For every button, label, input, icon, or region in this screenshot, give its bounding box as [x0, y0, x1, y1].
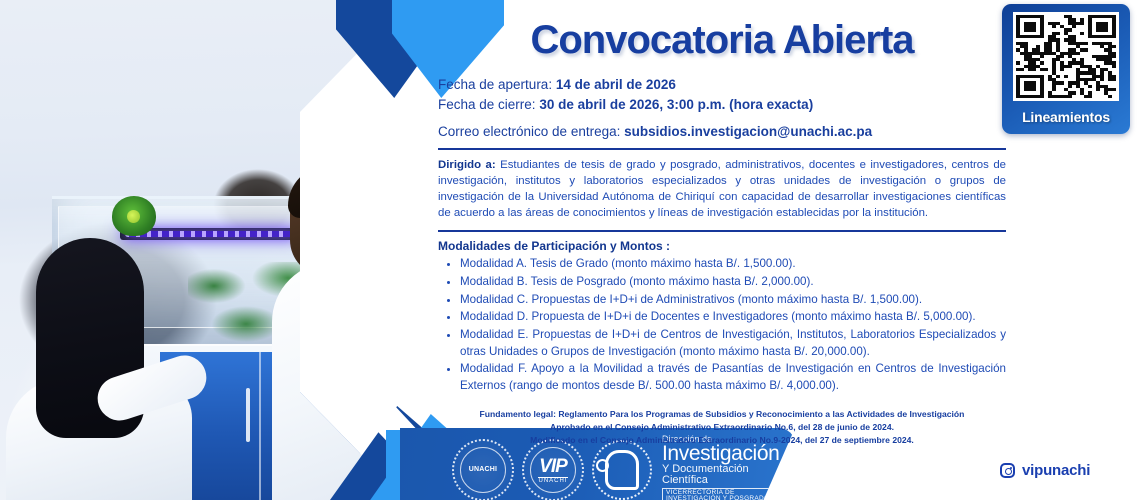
- legal-line-2: Aprobado en el Consejo Administrativo Ex…: [438, 421, 1006, 434]
- instagram-handle-text: vipunachi: [1022, 462, 1090, 479]
- researcher-right-hair: [288, 166, 380, 218]
- modalidades-heading: Modalidades de Participación y Montos :: [438, 239, 1006, 253]
- edge-accent-strip: [386, 430, 402, 500]
- promotional-banner: UNACHI VIP UNACHI Dirección de Investiga…: [0, 0, 1140, 500]
- lineamientos-label: Lineamientos: [1002, 109, 1130, 125]
- dirigido-paragraph: Dirigido a: Estudiantes de tesis de grad…: [438, 157, 1006, 222]
- list-item: Modalidad C. Propuestas de I+D+i de Admi…: [460, 292, 1006, 309]
- dates-block: Fecha de apertura: 14 de abril de 2026 F…: [438, 75, 1006, 116]
- content-column: Convocatoria Abierta Fecha de apertura: …: [438, 0, 1006, 500]
- researcher-right-head: [290, 172, 376, 276]
- email-value[interactable]: subsidios.investigacion@unachi.ac.pa: [624, 124, 872, 139]
- qr-code[interactable]: [1013, 12, 1119, 101]
- list-item: Modalidad B. Tesis de Posgrado (monto má…: [460, 274, 1006, 291]
- legal-line-1: Fundamento legal: Reglamento Para los Pr…: [438, 408, 1006, 421]
- cabinet-handle-left: [246, 388, 250, 442]
- dirigido-label: Dirigido a:: [438, 159, 496, 171]
- list-item: Modalidad F. Apoyo a la Movilidad a trav…: [460, 361, 1006, 394]
- modalidades-list: Modalidad A. Tesis de Grado (monto máxim…: [438, 256, 1006, 395]
- list-item: Modalidad E. Propuestas de I+D+i de Cent…: [460, 327, 1006, 360]
- list-item: Modalidad D. Propuesta de I+D+i de Docen…: [460, 309, 1006, 326]
- lineamientos-qr-card[interactable]: Lineamientos: [1002, 4, 1130, 134]
- qr-code-matrix: [1016, 15, 1116, 98]
- email-row: Correo electrónico de entrega: subsidios…: [438, 124, 1006, 139]
- close-date-value: 30 de abril de 2026, 3:00 p.m. (hora exa…: [539, 97, 813, 112]
- instagram-icon: [1000, 463, 1015, 478]
- list-item: Modalidad A. Tesis de Grado (monto máxim…: [460, 256, 1006, 273]
- instagram-handle[interactable]: vipunachi: [1000, 462, 1090, 479]
- open-date-value: 14 de abril de 2026: [556, 77, 676, 92]
- cabinet-seam: [259, 352, 261, 500]
- email-label: Correo electrónico de entrega:: [438, 124, 620, 139]
- page-title: Convocatoria Abierta: [438, 18, 1006, 63]
- close-date-row: Fecha de cierre: 30 de abril de 2026, 3:…: [438, 95, 1006, 115]
- legal-footnote: Fundamento legal: Reglamento Para los Pr…: [438, 408, 1006, 447]
- divider-bottom: [438, 230, 1006, 232]
- divider-top: [438, 148, 1006, 150]
- dirigido-text: Estudiantes de tesis de grado y posgrado…: [438, 159, 1006, 220]
- open-date-label: Fecha de apertura:: [438, 77, 552, 92]
- legal-line-3: Modificado en el Consejo Administrativo …: [438, 434, 1006, 447]
- open-date-row: Fecha de apertura: 14 de abril de 2026: [438, 75, 1006, 95]
- close-date-label: Fecha de cierre:: [438, 97, 536, 112]
- potted-plant: [112, 196, 156, 236]
